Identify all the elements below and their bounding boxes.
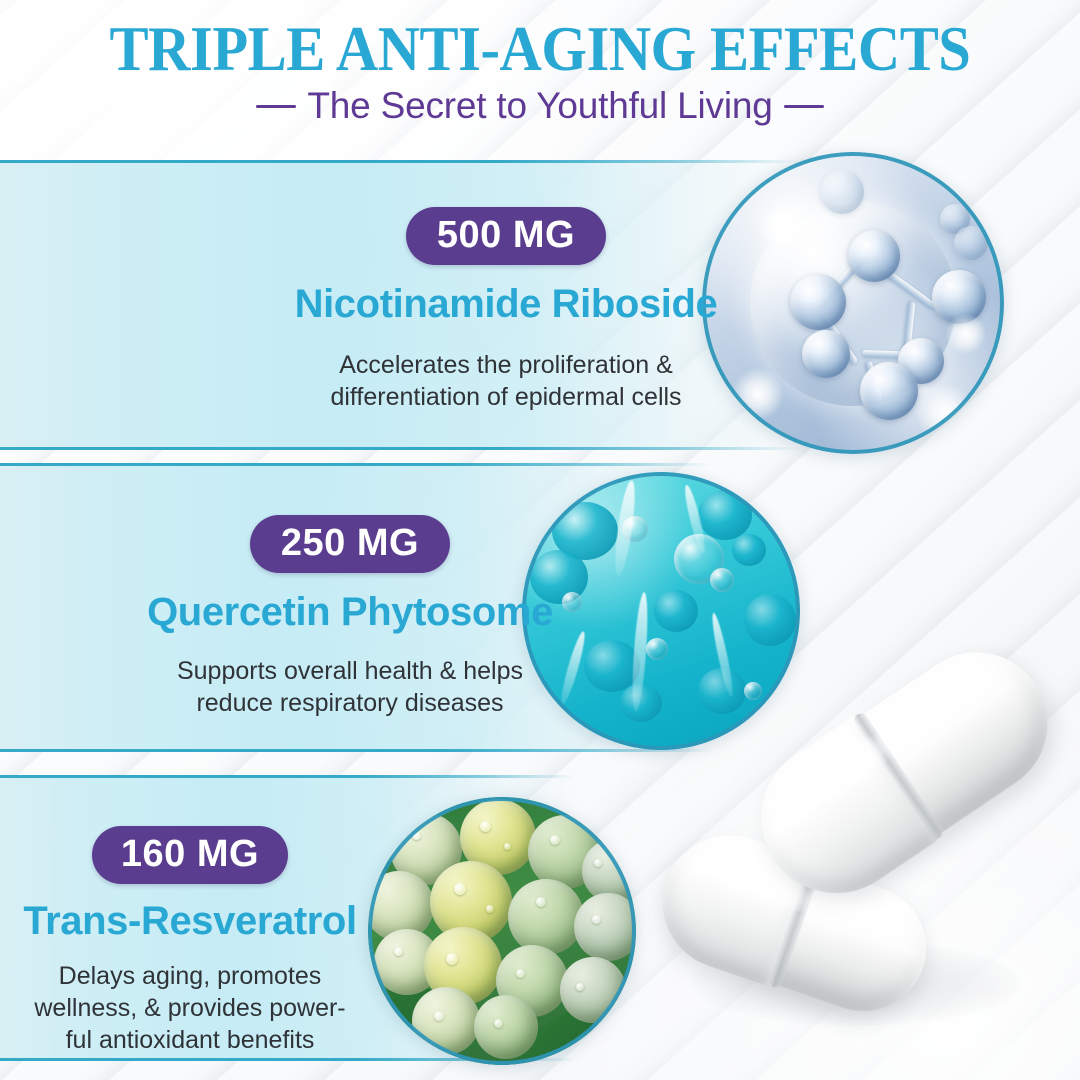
cell-blob <box>654 590 698 632</box>
left-dash-ornament-icon <box>256 105 296 108</box>
subtitle-row: The Secret to Youthful Living <box>0 86 1080 126</box>
molecule-atom <box>860 362 918 420</box>
water-droplet <box>394 947 403 956</box>
ingredient-description: Accelerates the proliferation & differen… <box>256 349 756 413</box>
water-droplet <box>446 953 458 965</box>
light-sparkle <box>916 384 974 442</box>
page-subtitle: The Secret to Youthful Living <box>307 86 772 126</box>
grape <box>508 879 584 955</box>
water-droplet <box>434 1011 444 1021</box>
ingredient-name: Trans-Resveratrol <box>10 898 370 944</box>
water-droplet <box>412 831 421 840</box>
ingredient-text-block-3: 160 MG Trans-Resveratrol Delays aging, p… <box>10 826 370 1056</box>
light-sparkle <box>946 314 986 354</box>
light-sparkle <box>758 204 804 250</box>
circle-image-inner <box>368 797 636 1065</box>
water-droplet <box>592 915 601 924</box>
ingredient-name: Quercetin Phytosome <box>110 589 590 635</box>
water-droplet <box>550 835 560 845</box>
water-droplet <box>576 983 584 991</box>
cell-blob <box>698 490 752 540</box>
dose-badge: 160 MG <box>92 826 288 884</box>
white-capsules-image <box>660 690 1080 1080</box>
water-droplet <box>516 969 525 978</box>
dose-badge: 500 MG <box>406 207 606 265</box>
cell-bubble <box>710 568 734 592</box>
molecule-atom <box>820 170 864 214</box>
green-grapes-image <box>368 797 636 1065</box>
cell-blob <box>584 640 640 692</box>
water-droplet <box>480 821 491 832</box>
ingredient-text-block-1: 500 MG Nicotinamide Riboside Accelerates… <box>256 207 756 413</box>
water-droplet <box>454 883 466 895</box>
grape <box>574 893 636 961</box>
water-droplet <box>536 897 546 907</box>
molecule-atom <box>848 230 900 282</box>
panel-top-rule <box>0 775 575 778</box>
page-title: TRIPLE ANTI-AGING EFFECTS <box>38 16 1042 82</box>
cell-blob <box>744 594 796 646</box>
molecule-atom <box>954 226 988 260</box>
grape <box>474 995 538 1059</box>
panel-top-rule <box>0 160 800 163</box>
water-droplet <box>494 1019 503 1028</box>
grape <box>560 957 626 1023</box>
ingredient-description: Delays aging, promotes wellness, & provi… <box>10 960 370 1056</box>
dose-badge: 250 MG <box>250 515 450 573</box>
ingredient-name: Nicotinamide Riboside <box>256 281 756 327</box>
grape <box>412 987 480 1055</box>
water-droplet <box>504 843 511 850</box>
water-droplet <box>594 859 602 867</box>
ingredient-description: Supports overall health & helps reduce r… <box>110 655 590 719</box>
panel-top-rule <box>0 463 712 466</box>
cell-bubble <box>646 638 668 660</box>
molecule-atom <box>790 274 846 330</box>
water-droplet <box>486 905 494 913</box>
cell-blob <box>732 534 766 566</box>
ingredient-text-block-2: 250 MG Quercetin Phytosome Supports over… <box>110 515 590 719</box>
infographic-stage: TRIPLE ANTI-AGING EFFECTS The Secret to … <box>0 0 1080 1080</box>
molecule-atom <box>802 330 850 378</box>
panel-bottom-rule <box>0 447 800 450</box>
right-dash-ornament-icon <box>784 105 824 108</box>
header: TRIPLE ANTI-AGING EFFECTS The Secret to … <box>0 0 1080 160</box>
